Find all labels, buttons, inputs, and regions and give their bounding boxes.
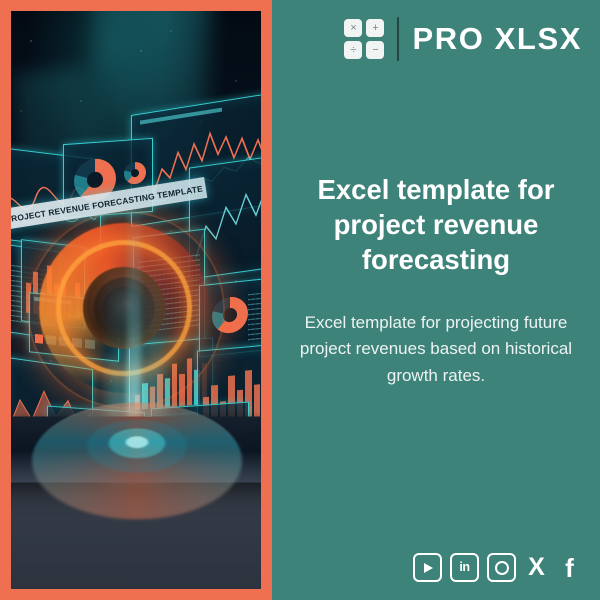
brand-lockup[interactable]: × + ÷ − PRO XLSX — [344, 17, 582, 61]
artwork-image: PROJECT REVENUE FORECASTING TEMPLATE — [11, 11, 261, 589]
linkedin-icon[interactable]: in — [450, 553, 479, 582]
brand-name: PRO XLSX — [412, 21, 582, 57]
x-twitter-icon[interactable]: X — [524, 555, 549, 580]
promo-poster: PROJECT REVENUE FORECASTING TEMPLATE × +… — [0, 0, 600, 600]
youtube-icon[interactable] — [413, 553, 442, 582]
tablet-device — [11, 416, 261, 482]
x-label: X — [528, 555, 545, 580]
linkedin-label: in — [459, 561, 469, 574]
instagram-icon[interactable] — [487, 553, 516, 582]
social-links: in X f — [413, 553, 582, 582]
play-triangle — [424, 563, 433, 573]
page-title: Excel template for project revenue forec… — [290, 172, 582, 278]
page-description: Excel template for projecting future pro… — [292, 310, 580, 389]
brand-divider — [397, 17, 399, 61]
facebook-label: f — [565, 555, 574, 581]
calculator-icon: × + ÷ − — [344, 19, 384, 59]
artwork-frame: PROJECT REVENUE FORECASTING TEMPLATE — [0, 0, 272, 600]
instagram-lens — [495, 561, 509, 575]
facebook-icon[interactable]: f — [557, 555, 582, 580]
calculator-key-divide: ÷ — [344, 41, 362, 59]
calculator-key-multiply: × — [344, 19, 362, 37]
calculator-key-minus: − — [366, 41, 384, 59]
content-column: × + ÷ − PRO XLSX Excel template for proj… — [272, 0, 600, 600]
calculator-key-plus: + — [366, 19, 384, 37]
kpi-lines — [248, 291, 261, 343]
